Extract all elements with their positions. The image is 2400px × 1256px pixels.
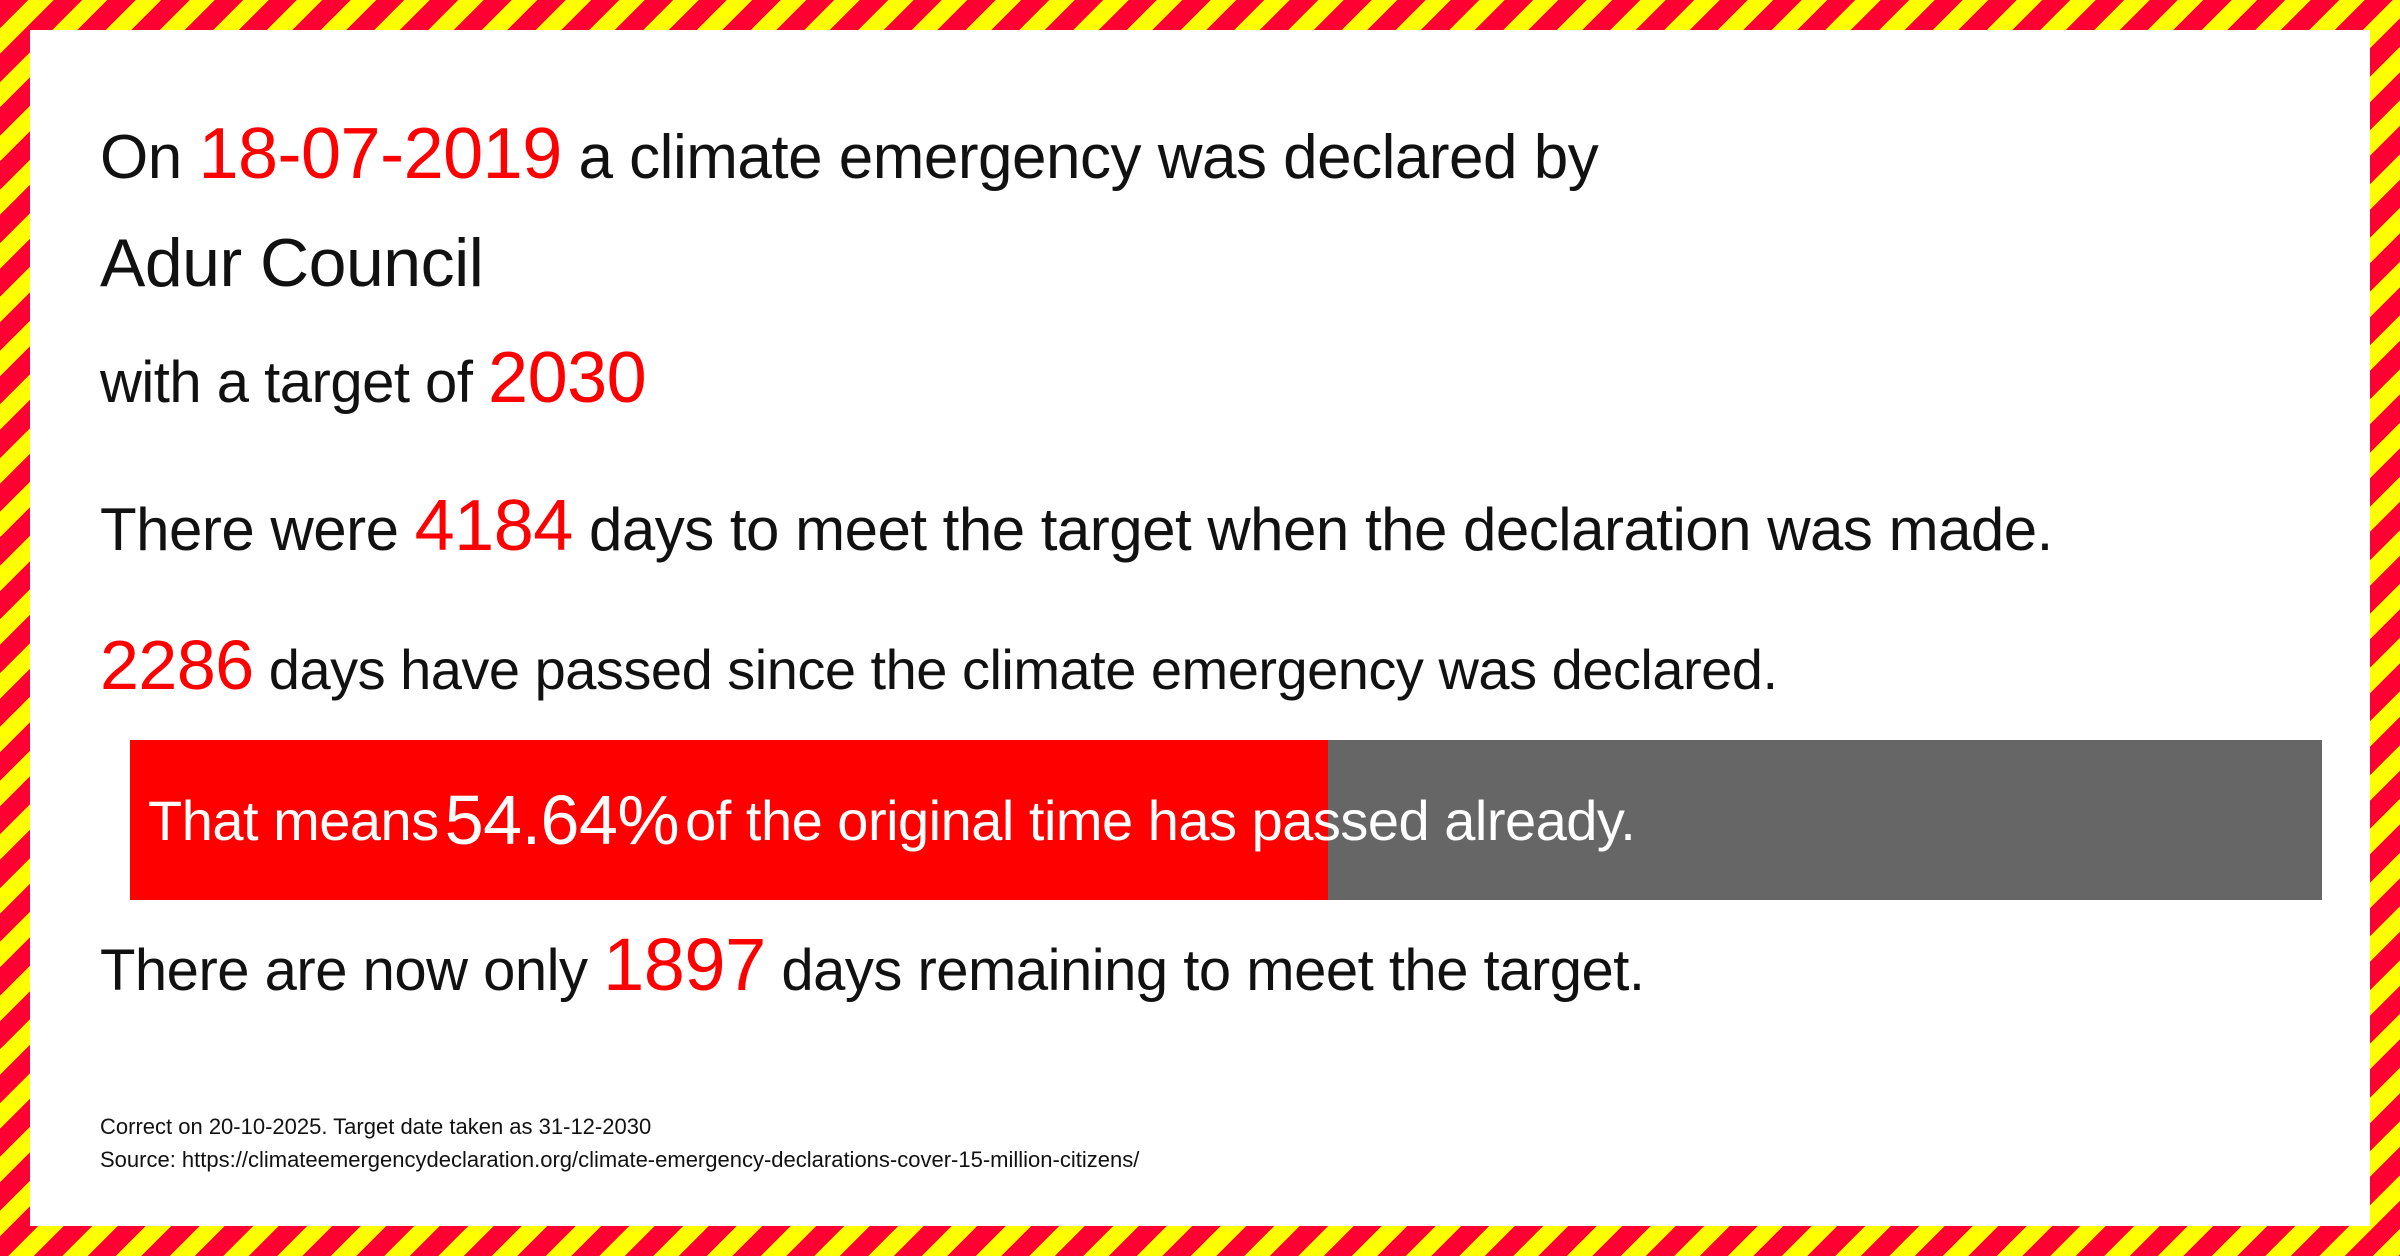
days-remaining-value: 1897 bbox=[603, 923, 766, 1006]
days-to-target-value: 4184 bbox=[415, 486, 573, 566]
days-passed-suffix-text: days have passed since the climate emerg… bbox=[254, 638, 1778, 701]
progress-percent-value: 54.64% bbox=[439, 780, 685, 860]
declared-prefix-text: On bbox=[100, 123, 198, 192]
days-passed-line: 2286 days have passed since the climate … bbox=[100, 630, 1778, 700]
progress-suffix-text: of the original time has passed already. bbox=[685, 788, 1635, 853]
days-to-target-prefix-text: There were bbox=[100, 496, 415, 563]
days-to-target-line: There were 4184 days to meet the target … bbox=[100, 490, 2053, 562]
target-year-value: 2030 bbox=[488, 338, 646, 418]
council-name: Adur Council bbox=[100, 229, 483, 297]
days-passed-value: 2286 bbox=[100, 626, 254, 704]
progress-bar-label: That means 54.64% of the original time h… bbox=[148, 740, 1635, 900]
footnote-correct-on: Correct on 20-10-2025. Target date taken… bbox=[100, 1110, 1139, 1143]
declaration-date-value: 18-07-2019 bbox=[198, 114, 561, 194]
elapsed-time-progress-bar: That means 54.64% of the original time h… bbox=[130, 740, 2322, 900]
target-prefix-text: with a target of bbox=[100, 350, 488, 415]
days-remaining-prefix-text: There are now only bbox=[100, 938, 603, 1003]
footnote-source: Source: https://climateemergencydeclarat… bbox=[100, 1143, 1139, 1176]
declaration-date-line: On 18-07-2019 a climate emergency was de… bbox=[100, 118, 1598, 190]
days-remaining-line: There are now only 1897 days remaining t… bbox=[100, 928, 1645, 1002]
footnote: Correct on 20-10-2025. Target date taken… bbox=[100, 1110, 1139, 1176]
climate-emergency-card: On 18-07-2019 a climate emergency was de… bbox=[30, 30, 2370, 1226]
days-remaining-suffix-text: days remaining to meet the target. bbox=[766, 938, 1645, 1003]
progress-prefix-text: That means bbox=[148, 788, 439, 853]
target-year-line: with a target of 2030 bbox=[100, 342, 646, 414]
declared-suffix-text: a climate emergency was declared by bbox=[562, 123, 1598, 192]
hazard-striped-border: On 18-07-2019 a climate emergency was de… bbox=[0, 0, 2400, 1256]
days-to-target-suffix-text: days to meet the target when the declara… bbox=[573, 496, 2053, 563]
